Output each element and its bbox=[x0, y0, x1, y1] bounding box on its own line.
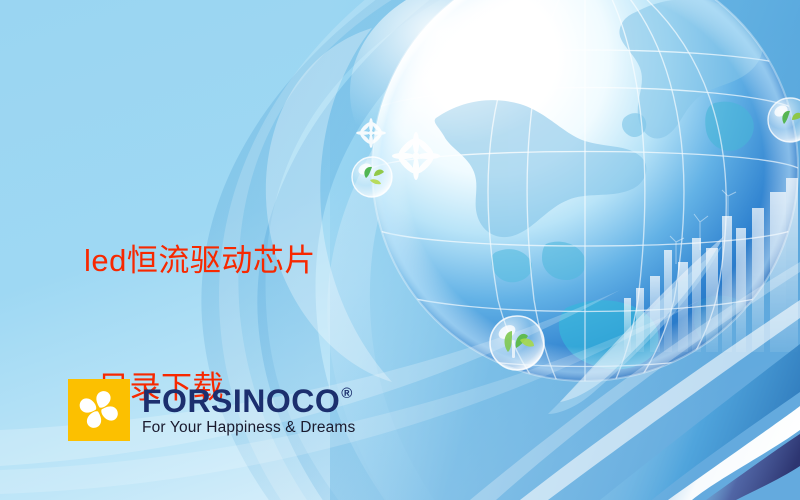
promo-banner: led恒流驱动芯片 目录下载 FORSINOCO ® For Your Happ… bbox=[0, 0, 800, 500]
logo-wordmark: FORSINOCO ® bbox=[142, 385, 355, 417]
registered-trademark-icon: ® bbox=[341, 386, 353, 401]
company-logo[interactable]: FORSINOCO ® For Your Happiness & Dreams bbox=[68, 379, 355, 441]
four-petal-pinwheel-icon bbox=[68, 379, 130, 441]
logo-text-block: FORSINOCO ® For Your Happiness & Dreams bbox=[142, 385, 355, 436]
logo-wordmark-text: FORSINOCO bbox=[142, 385, 340, 417]
headline-line-1: led恒流驱动芯片 bbox=[84, 241, 444, 281]
logo-tagline: For Your Happiness & Dreams bbox=[142, 420, 355, 436]
bubble-icon bbox=[490, 316, 544, 370]
